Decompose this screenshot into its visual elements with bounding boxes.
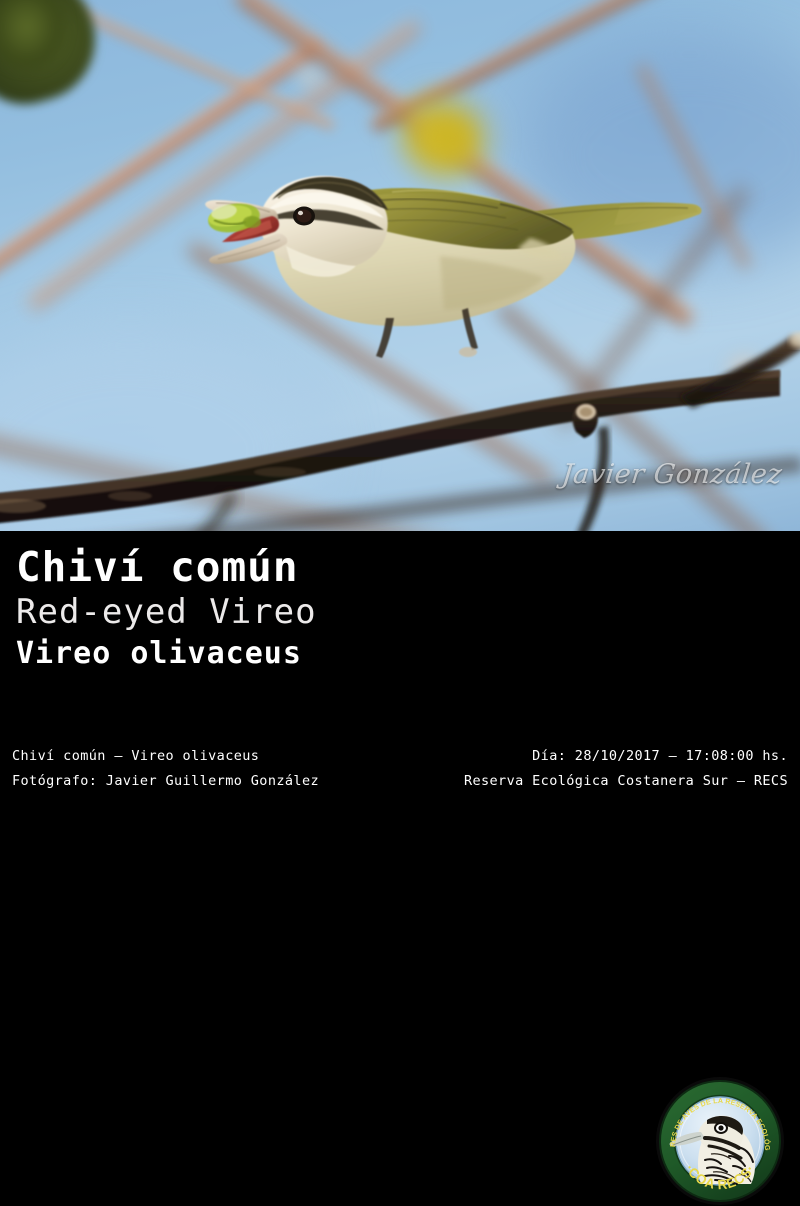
species-title-text: Chiví común Red-eyed Vireo Vireo olivace…: [16, 545, 317, 674]
common-name: Chiví común: [16, 545, 317, 591]
english-name: Red-eyed Vireo: [16, 591, 317, 635]
photo-metadata-footer: Chiví común — Vireo olivaceus Fotógrafo:…: [0, 735, 800, 800]
footer-photographer-line: Fotógrafo: Javier Guillermo González: [12, 775, 319, 789]
footer-location-line: Reserva Ecológica Costanera Sur — RECS: [464, 775, 788, 789]
bokeh-highlight: [728, 356, 762, 382]
coa-recs-logo-svg: CLUB DE OBSERVADORES DE AVES DE LA RESER…: [655, 1076, 785, 1206]
bird-photograph: Javier González: [0, 0, 800, 531]
background-branch: [0, 430, 468, 531]
bird-foot: [459, 347, 477, 357]
bokeh-highlight: [296, 66, 322, 86]
yellow-leaf-core: [430, 118, 476, 158]
scientific-name: Vireo olivaceus: [16, 634, 317, 674]
photographer-watermark: Javier González: [560, 459, 783, 490]
red-eyed-vireo: [200, 160, 720, 380]
bird-eye-highlight: [298, 211, 303, 215]
footer-species-line: Chiví común — Vireo olivaceus: [12, 750, 259, 764]
species-title-band: Chiví común Red-eyed Vireo Vireo olivace…: [0, 531, 800, 735]
footer-date-line: Día: 28/10/2017 — 17:08:00 hs.: [532, 750, 788, 764]
coa-recs-logo[interactable]: CLUB DE OBSERVADORES DE AVES DE LA RESER…: [655, 1076, 785, 1206]
